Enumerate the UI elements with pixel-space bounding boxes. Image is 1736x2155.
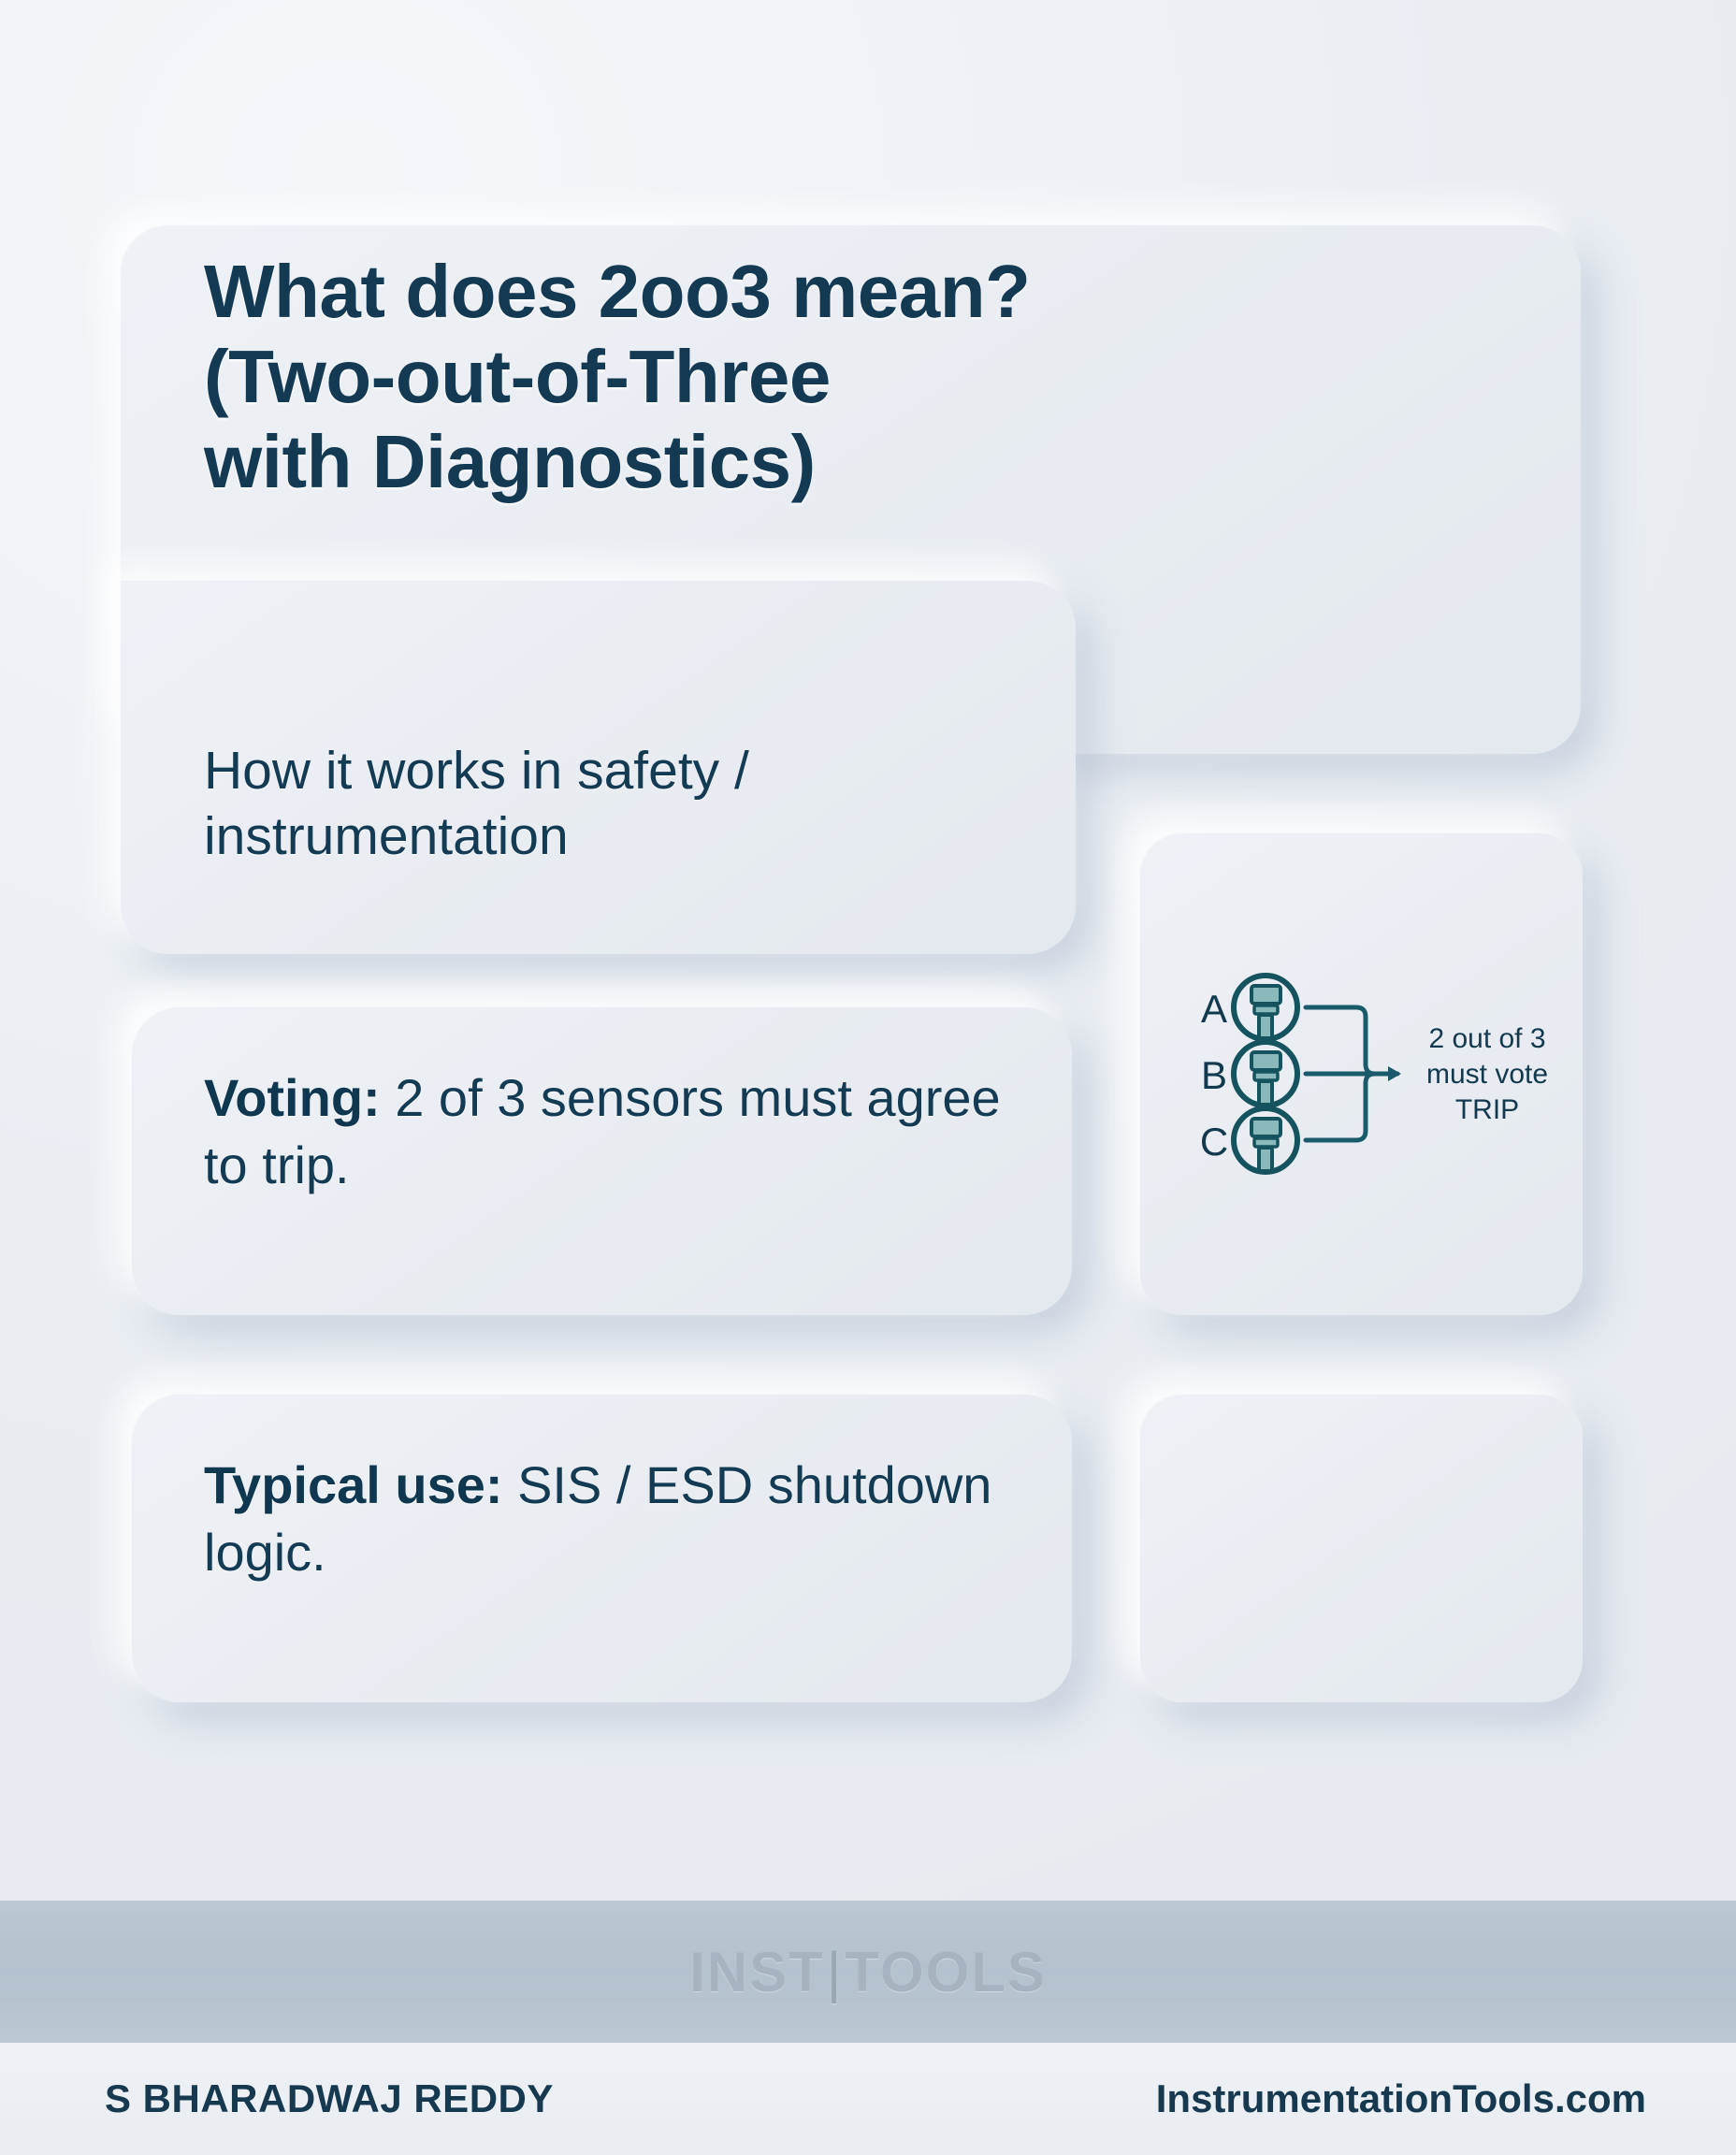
voting-wires: [1306, 1007, 1397, 1140]
voting-fact-label: Voting:: [204, 1068, 381, 1127]
usecase-fact-card: Typical use: SIS / ESD shutdown logic.: [131, 1394, 1072, 1702]
sensor-label-a: A: [1201, 987, 1227, 1031]
page-subtitle: How it works in safety / instrumentation: [204, 739, 1008, 869]
brand-logo-left: INST: [689, 1941, 825, 2003]
poster-canvas: What does 2oo3 mean? (Two-out-of-Three w…: [0, 0, 1736, 2155]
brand-band: INST|TOOLS: [0, 1901, 1736, 2043]
brand-logo: INST|TOOLS: [689, 1940, 1047, 2004]
voting-diagram: A B C 2 out of 3 must vote TRIP: [1139, 832, 1583, 1315]
author-name: S BHARADWAJ REDDY: [105, 2076, 554, 2121]
footer-row: S BHARADWAJ REDDY InstrumentationTools.c…: [0, 2043, 1736, 2155]
subtitle-card: How it works in safety / instrumentation: [120, 580, 1076, 954]
sensor-label-c: C: [1200, 1120, 1228, 1164]
voting-diagram-card: A B C 2 out of 3 must vote TRIP: [1139, 832, 1583, 1315]
sensor-icon-a: [1234, 976, 1297, 1039]
sensor-label-b: B: [1201, 1053, 1227, 1097]
sensor-icon-b: [1234, 1042, 1297, 1106]
annotation-line-2: must vote: [1426, 1059, 1548, 1090]
annotation-line-1: 2 out of 3: [1428, 1023, 1545, 1054]
usecase-fact-text: Typical use: SIS / ESD shutdown logic.: [204, 1452, 1027, 1585]
trip-arrow-icon: [1388, 1066, 1401, 1081]
voting-fact-card: Voting: 2 of 3 sensors must agree to tri…: [131, 1006, 1072, 1315]
page-title: What does 2oo3 mean? (Two-out-of-Three w…: [204, 249, 1476, 505]
sensor-icon-c: [1234, 1108, 1297, 1172]
brand-logo-right: TOOLS: [845, 1941, 1047, 2003]
brand-logo-divider: |: [827, 1940, 844, 2004]
annotation-line-3: TRIP: [1455, 1094, 1519, 1125]
usecase-fact-label: Typical use:: [204, 1455, 503, 1514]
blank-spacer-card: [1139, 1394, 1583, 1702]
site-url[interactable]: InstrumentationTools.com: [1156, 2076, 1646, 2121]
voting-fact-text: Voting: 2 of 3 sensors must agree to tri…: [204, 1064, 1027, 1198]
